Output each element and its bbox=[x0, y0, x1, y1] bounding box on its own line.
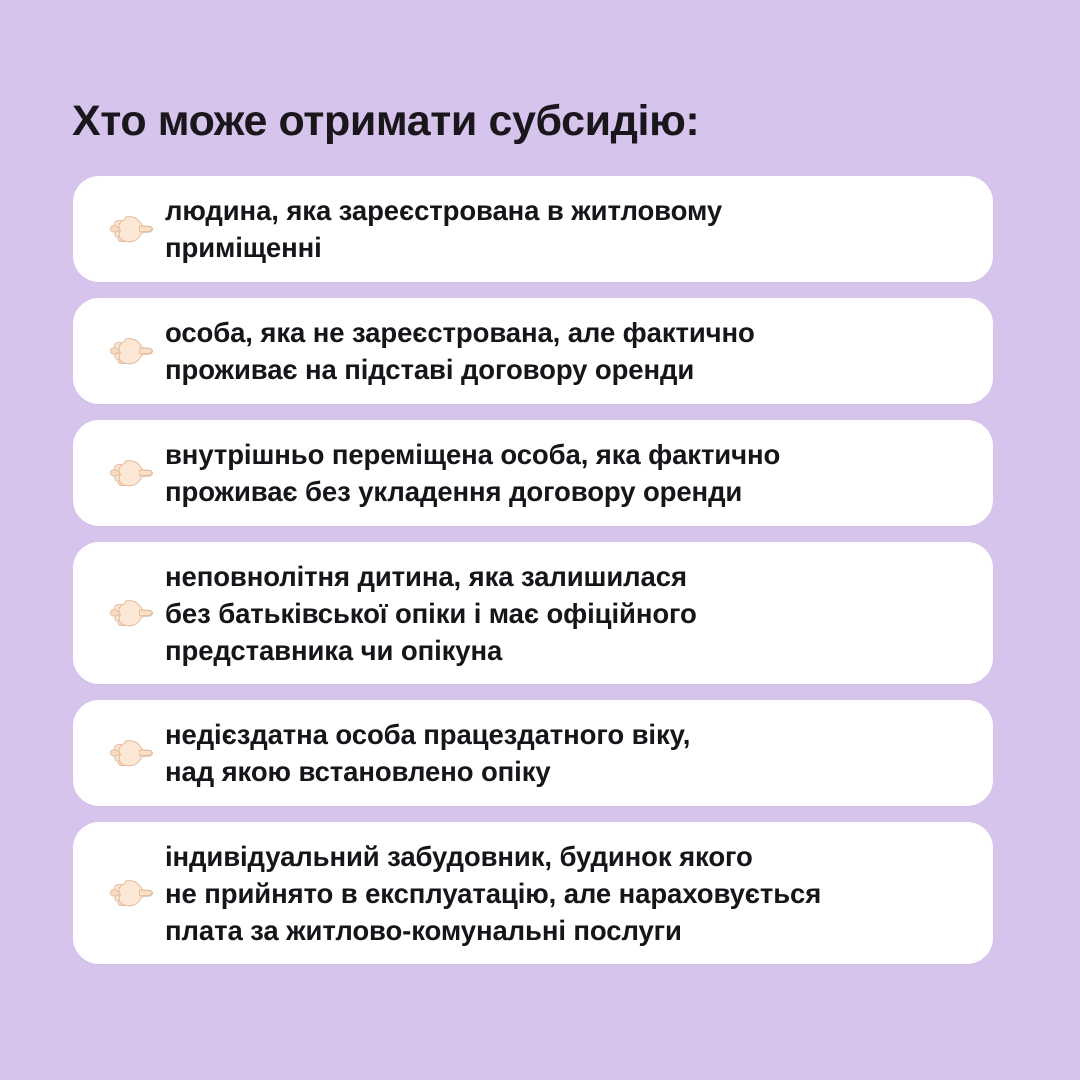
eligibility-card-text: особа, яка не зареєстрована, але фактичн… bbox=[165, 300, 965, 402]
eligibility-card-list: людина, яка зареєстрована в житловому пр… bbox=[73, 176, 993, 964]
pointing-right-hand-emoji bbox=[97, 876, 165, 910]
eligibility-card-2: особа, яка не зареєстрована, але фактичн… bbox=[73, 298, 993, 404]
page-title: Хто може отримати субсидію: bbox=[72, 97, 1012, 145]
infographic-poster: Хто може отримати субсидію: людина, яка … bbox=[0, 0, 1080, 1080]
pointing-right-hand-emoji bbox=[97, 596, 165, 630]
eligibility-card-4: неповнолітня дитина, яка залишилася без … bbox=[73, 542, 993, 684]
eligibility-card-text: індивідуальний забудовник, будинок якого… bbox=[165, 824, 965, 963]
pointing-right-hand-emoji bbox=[97, 212, 165, 246]
pointing-right-hand-emoji bbox=[97, 736, 165, 770]
eligibility-card-text: внутрішньо переміщена особа, яка фактичн… bbox=[165, 422, 965, 524]
eligibility-card-5: недієздатна особа працездатного віку, на… bbox=[73, 700, 993, 806]
pointing-right-hand-emoji bbox=[97, 334, 165, 368]
eligibility-card-text: неповнолітня дитина, яка залишилася без … bbox=[165, 544, 965, 683]
eligibility-card-1: людина, яка зареєстрована в житловому пр… bbox=[73, 176, 993, 282]
eligibility-card-text: людина, яка зареєстрована в житловому пр… bbox=[165, 178, 965, 280]
pointing-right-hand-emoji bbox=[97, 456, 165, 490]
eligibility-card-text: недієздатна особа працездатного віку, на… bbox=[165, 702, 965, 804]
eligibility-card-6: індивідуальний забудовник, будинок якого… bbox=[73, 822, 993, 964]
eligibility-card-3: внутрішньо переміщена особа, яка фактичн… bbox=[73, 420, 993, 526]
